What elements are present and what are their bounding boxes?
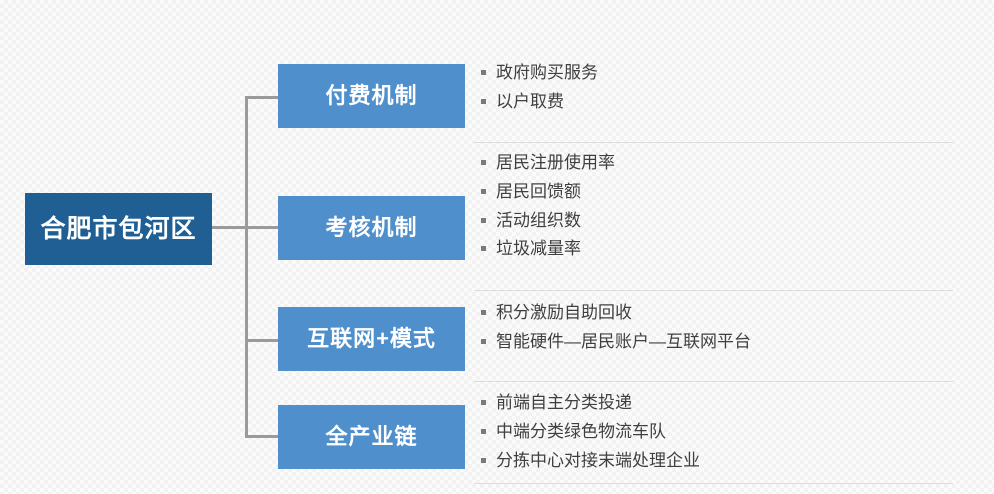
list-item: 分拣中心对接末端处理企业 [481,450,994,472]
list-item-label: 分拣中心对接末端处理企业 [496,450,700,472]
list-item-label: 政府购买服务 [496,62,598,84]
list-item-label: 智能硬件—居民账户—互联网平台 [496,331,751,353]
branch-node-assessment-mechanism[interactable]: 考核机制 [278,196,465,260]
root-node[interactable]: 合肥市包河区 [25,193,212,265]
square-bullet-icon [481,429,486,434]
list-item: 政府购买服务 [481,62,994,84]
branch-node-label: 互联网+模式 [307,328,436,350]
connector-root-trunk [212,226,248,229]
square-bullet-icon [481,99,486,104]
branch-node-label: 考核机制 [325,217,417,239]
connector-branch-3 [245,339,278,342]
connector-branch-2 [245,226,278,229]
list-item-label: 以户取费 [496,91,564,113]
square-bullet-icon [481,160,486,165]
branch-node-label: 付费机制 [325,85,417,107]
detail-group-internet-plus-model: 积分激励自助回收 智能硬件—居民账户—互联网平台 [481,302,994,360]
detail-group-payment-mechanism: 政府购买服务 以户取费 [481,62,994,120]
square-bullet-icon [481,70,486,75]
list-item: 以户取费 [481,91,994,113]
connector-vertical-trunk [245,96,248,438]
list-item: 中端分类绿色物流车队 [481,421,994,443]
list-item-label: 居民注册使用率 [496,152,615,174]
list-item-label: 垃圾减量率 [496,238,581,260]
list-item: 居民注册使用率 [481,152,994,174]
list-item: 活动组织数 [481,210,994,232]
list-item: 积分激励自助回收 [481,302,994,324]
list-item-label: 前端自主分类投递 [496,392,632,414]
square-bullet-icon [481,189,486,194]
square-bullet-icon [481,400,486,405]
list-item: 前端自主分类投递 [481,392,994,414]
square-bullet-icon [481,246,486,251]
connector-branch-1 [245,96,278,99]
list-item: 智能硬件—居民账户—互联网平台 [481,331,994,353]
detail-column: 政府购买服务 以户取费 居民注册使用率 居民回馈额 活动组织数 垃圾 [481,0,994,494]
list-item-label: 居民回馈额 [496,181,581,203]
list-item: 居民回馈额 [481,181,994,203]
square-bullet-icon [481,310,486,315]
diagram-canvas: 合肥市包河区 付费机制 考核机制 互联网+模式 全产业链 政府购买服务 以户取费 [0,0,994,494]
square-bullet-icon [481,458,486,463]
list-item-label: 积分激励自助回收 [496,302,632,324]
branch-node-full-industry-chain[interactable]: 全产业链 [278,405,465,469]
branch-node-internet-plus-model[interactable]: 互联网+模式 [278,307,465,371]
branch-node-label: 全产业链 [325,426,417,448]
list-item-label: 中端分类绿色物流车队 [496,421,666,443]
detail-group-full-industry-chain: 前端自主分类投递 中端分类绿色物流车队 分拣中心对接末端处理企业 [481,392,994,478]
square-bullet-icon [481,339,486,344]
square-bullet-icon [481,218,486,223]
connector-branch-4 [245,435,278,438]
detail-group-assessment-mechanism: 居民注册使用率 居民回馈额 活动组织数 垃圾减量率 [481,152,994,267]
root-node-label: 合肥市包河区 [40,217,196,242]
list-item-label: 活动组织数 [496,210,581,232]
branch-node-payment-mechanism[interactable]: 付费机制 [278,64,465,128]
list-item: 垃圾减量率 [481,238,994,260]
